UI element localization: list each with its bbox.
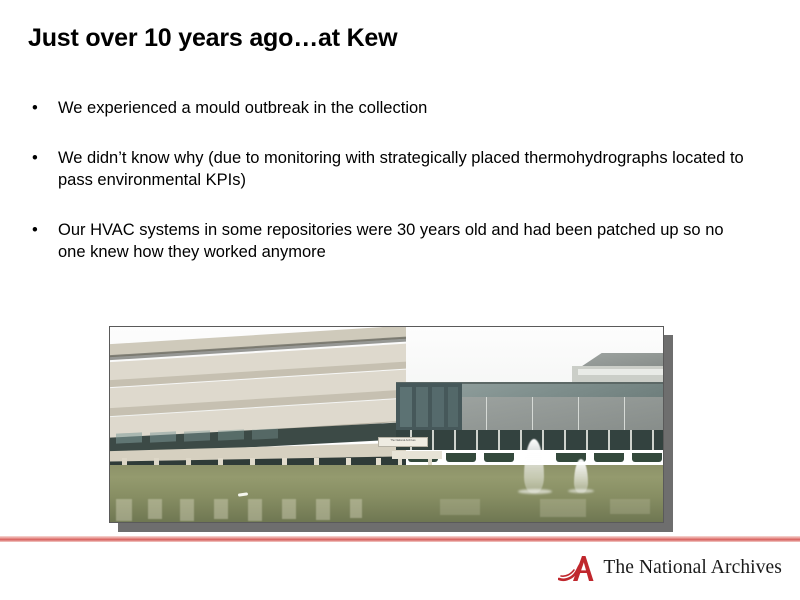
reflection: [350, 499, 362, 518]
footer-divider: [0, 536, 800, 542]
reflection: [316, 499, 330, 520]
list-item: • We didn’t know why (due to monitoring …: [28, 148, 754, 191]
footer-logo-text: The National Archives: [603, 557, 782, 579]
window-mullion: [630, 430, 632, 450]
reflection: [214, 499, 228, 519]
roof-seam: [486, 397, 487, 430]
window-mullion: [476, 430, 478, 450]
glass-pane: [448, 387, 458, 427]
glass-pane: [400, 387, 412, 427]
reflection: [282, 499, 296, 519]
reflection: [248, 499, 262, 521]
building-sign-text: The National Archives: [379, 438, 427, 443]
page-title: Just over 10 years ago…at Kew: [28, 24, 768, 53]
photo-canvas: The National Archives: [110, 327, 663, 522]
entrance-canopy: [392, 451, 442, 459]
list-item-text: We experienced a mould outbreak in the c…: [58, 98, 754, 119]
awning: [446, 453, 476, 462]
window-mullion: [586, 430, 588, 450]
bullet-dot-icon: •: [32, 98, 38, 119]
window-mullion: [520, 430, 522, 450]
glass-pane: [184, 430, 210, 441]
glass-pane: [218, 429, 244, 440]
reflection: [440, 499, 480, 515]
roof-seam: [624, 397, 625, 430]
fountain-splash: [568, 489, 594, 493]
window-mullion: [564, 430, 566, 450]
awning: [484, 453, 514, 462]
list-item-text: Our HVAC systems in some repositories we…: [58, 220, 754, 263]
list-item-text: We didn’t know why (due to monitoring wi…: [58, 148, 754, 191]
window-mullion: [454, 430, 456, 450]
footer-logo: The National Archives: [558, 551, 782, 585]
bullet-list: • We experienced a mould outbreak in the…: [28, 98, 754, 263]
reflection: [610, 499, 650, 514]
reflection: [116, 499, 132, 521]
glass-pane: [432, 387, 444, 427]
photo-national-archives-kew: The National Archives: [109, 326, 664, 523]
awning: [594, 453, 624, 462]
roof-seam: [532, 397, 533, 430]
list-item: • Our HVAC systems in some repositories …: [28, 220, 754, 263]
building-sign: The National Archives: [378, 437, 428, 447]
awning: [632, 453, 662, 462]
reflection: [148, 499, 162, 519]
photo-frame: The National Archives: [109, 326, 664, 523]
glass-pane: [416, 387, 428, 427]
pavilion-parapet: [578, 369, 663, 375]
reflection: [540, 499, 586, 517]
glass-pane: [150, 431, 176, 442]
roof-seam: [578, 397, 579, 430]
window-mullion: [498, 430, 500, 450]
reflection: [180, 499, 194, 521]
bullet-dot-icon: •: [32, 220, 38, 241]
national-archives-a-icon: [558, 552, 598, 584]
window-mullion: [542, 430, 544, 450]
window-mullion: [652, 430, 654, 450]
glass-pane: [252, 428, 278, 439]
bullet-dot-icon: •: [32, 148, 38, 169]
list-item: • We experienced a mould outbreak in the…: [28, 98, 754, 119]
window-mullion: [432, 430, 434, 450]
fountain-splash: [518, 489, 552, 494]
fountain-small: [574, 459, 588, 493]
window-mullion: [608, 430, 610, 450]
glass-pane: [116, 432, 142, 443]
